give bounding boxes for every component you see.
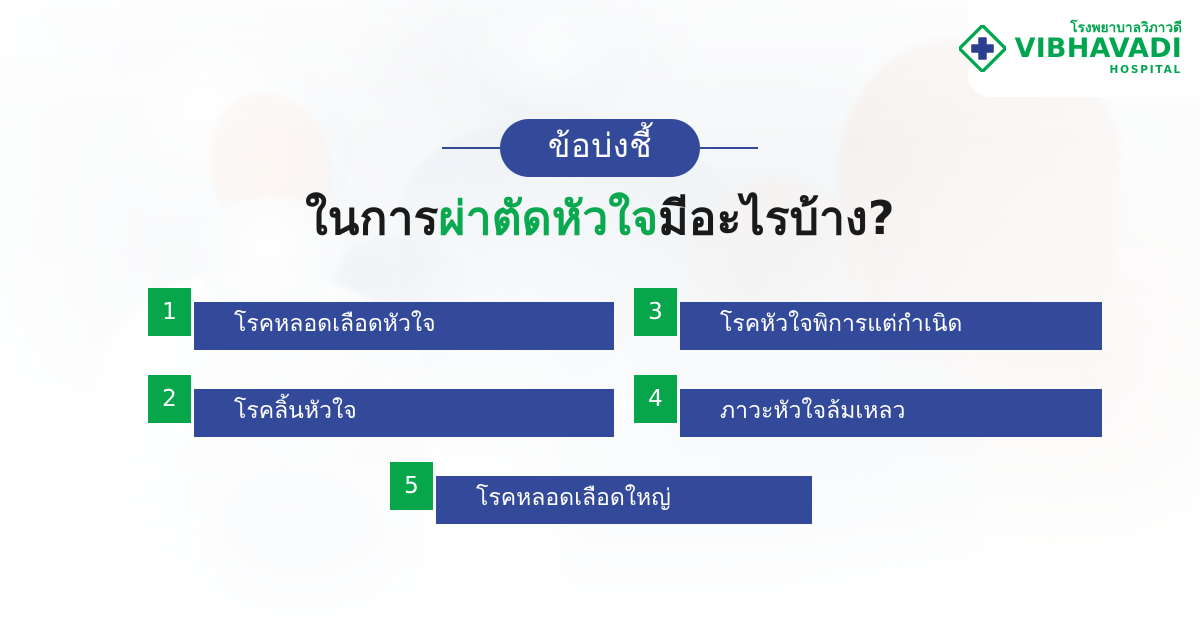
medical-cross-diamond-icon xyxy=(959,25,1006,72)
logo-subtitle: HOSPITAL xyxy=(1110,65,1182,76)
list-item-label: โรคหลอดเลือดหัวใจ xyxy=(194,313,436,340)
page-title: ในการผ่าตัดหัวใจมีอะไรบ้าง? xyxy=(0,190,1200,248)
list-item-number: 5 xyxy=(390,462,433,510)
poster-canvas: โรงพยาบาลวิภาวดี VIBHAVADI HOSPITAL ข้อบ… xyxy=(0,0,1200,628)
list-item-bar: โรคลิ้นหัวใจ xyxy=(194,389,614,437)
list-item-bar: โรคหัวใจพิการแต่กำเนิด xyxy=(680,302,1102,350)
badge-pill: ข้อบ่งชี้ xyxy=(500,119,700,177)
list-item-label: โรคลิ้นหัวใจ xyxy=(194,400,357,427)
logo-wordmark: โรงพยาบาลวิภาวดี VIBHAVADI HOSPITAL xyxy=(1015,22,1182,75)
list-item-number: 2 xyxy=(148,375,191,423)
badge-row: ข้อบ่งชี้ xyxy=(0,119,1200,177)
badge-rule-right xyxy=(690,147,758,149)
list-item-bar: โรคหลอดเลือดใหญ่ xyxy=(436,476,812,524)
list-item-label: โรคหัวใจพิการแต่กำเนิด xyxy=(680,313,962,340)
list-item-bar: ภาวะหัวใจล้มเหลว xyxy=(680,389,1102,437)
logo-brand-name: VIBHAVADI xyxy=(1015,36,1182,62)
list-item-number: 4 xyxy=(634,375,677,423)
list-item-label: ภาวะหัวใจล้มเหลว xyxy=(680,400,905,427)
list-item-number: 1 xyxy=(148,288,191,336)
headline-highlight: ผ่าตัดหัวใจ xyxy=(439,191,659,245)
headline-part-1: ในการ xyxy=(305,191,438,245)
hospital-logo-card[interactable]: โรงพยาบาลวิภาวดี VIBHAVADI HOSPITAL xyxy=(968,0,1200,97)
headline-part-2: มีอะไรบ้าง? xyxy=(658,191,894,245)
list-item-label: โรคหลอดเลือดใหญ่ xyxy=(436,487,671,514)
list-item-number: 3 xyxy=(634,288,677,336)
list-item-bar: โรคหลอดเลือดหัวใจ xyxy=(194,302,614,350)
